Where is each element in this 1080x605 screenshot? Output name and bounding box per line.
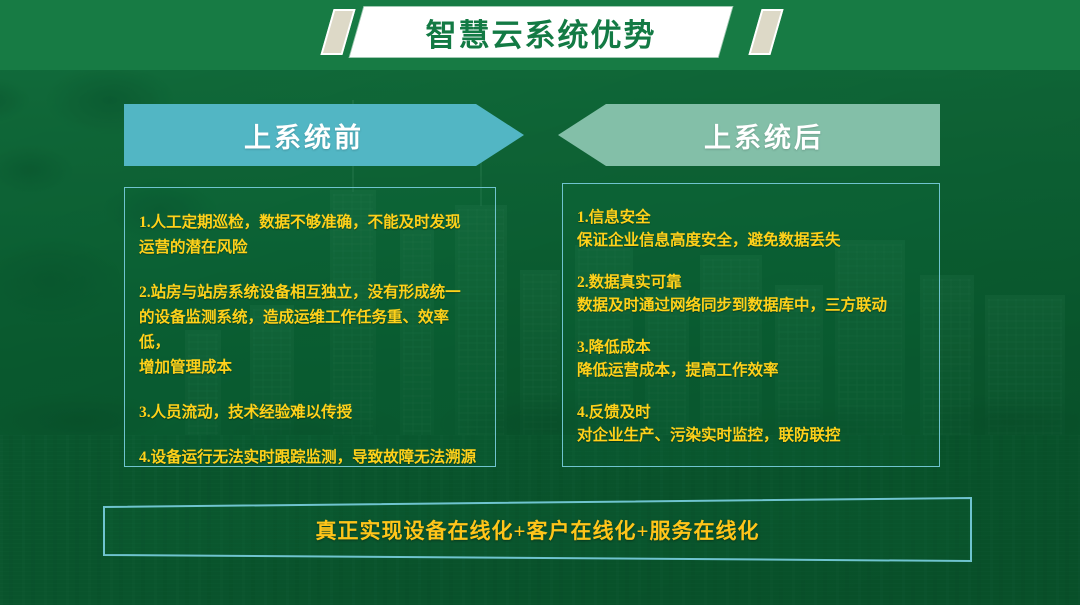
header-arrow-before: 上系统前 — [124, 104, 524, 166]
list-item: 3.人员流动，技术经验难以传授 — [139, 400, 479, 425]
list-item-line: 2.站房与站房系统设备相互独立，没有形成统一 — [139, 280, 479, 305]
list-item-heading: 3.降低成本 — [577, 336, 923, 359]
header-label-after: 上系统后 — [704, 116, 824, 155]
list-item-heading: 4.反馈及时 — [577, 401, 923, 424]
list-item: 2.数据真实可靠 数据及时通过网络同步到数据库中，三方联动 — [577, 271, 923, 317]
list-item: 4.设备运行无法实时跟踪监测，导致故障无法溯源 — [139, 445, 479, 470]
header-arrow-after: 上系统后 — [558, 104, 940, 166]
list-item-heading: 1.信息安全 — [577, 206, 923, 229]
list-item-line: 降低运营成本，提高工作效率 — [577, 359, 923, 382]
title-accent-bar-right — [748, 9, 783, 55]
panel-after: 1.信息安全 保证企业信息高度安全，避免数据丢失 2.数据真实可靠 数据及时通过… — [562, 183, 940, 467]
after-item-list: 1.信息安全 保证企业信息高度安全，避免数据丢失 2.数据真实可靠 数据及时通过… — [563, 184, 939, 466]
list-item: 1.人工定期巡检，数据不够准确，不能及时发现 运营的潜在风险 — [139, 210, 479, 260]
list-item-line: 运营的潜在风险 — [139, 235, 479, 260]
list-item: 3.降低成本 降低运营成本，提高工作效率 — [577, 336, 923, 382]
list-item: 1.信息安全 保证企业信息高度安全，避免数据丢失 — [577, 206, 923, 252]
list-item: 4.反馈及时 对企业生产、污染实时监控，联防联控 — [577, 401, 923, 447]
page-title: 智慧云系统优势 — [357, 7, 725, 57]
list-item-line: 的设备监测系统，造成运维工作任务重、效率低， — [139, 305, 479, 355]
footer-text: 真正实现设备在线化+客户在线化+服务在线化 — [103, 497, 972, 563]
list-item: 2.站房与站房系统设备相互独立，没有形成统一 的设备监测系统，造成运维工作任务重… — [139, 280, 479, 380]
list-item-line: 对企业生产、污染实时监控，联防联控 — [577, 424, 923, 447]
title-band: 智慧云系统优势 — [0, 0, 1080, 70]
list-item-line: 增加管理成本 — [139, 355, 479, 380]
title-banner: 智慧云系统优势 — [327, 7, 777, 59]
panel-before: 1.人工定期巡检，数据不够准确，不能及时发现 运营的潜在风险 2.站房与站房系统… — [124, 187, 496, 467]
list-item-line: 保证企业信息高度安全，避免数据丢失 — [577, 229, 923, 252]
slide-root: 智慧云系统优势 上系统前 上系统后 1.人工定期巡检，数据不够准确，不能及时发现… — [0, 0, 1080, 605]
footer-banner: 真正实现设备在线化+客户在线化+服务在线化 — [103, 497, 972, 563]
list-item-heading: 2.数据真实可靠 — [577, 271, 923, 294]
list-item-line: 4.设备运行无法实时跟踪监测，导致故障无法溯源 — [139, 445, 479, 470]
title-accent-bar-left — [320, 9, 355, 55]
list-item-line: 1.人工定期巡检，数据不够准确，不能及时发现 — [139, 210, 479, 235]
before-item-list: 1.人工定期巡检，数据不够准确，不能及时发现 运营的潜在风险 2.站房与站房系统… — [125, 188, 495, 466]
list-item-line: 3.人员流动，技术经验难以传授 — [139, 400, 479, 425]
header-label-before: 上系统前 — [244, 116, 364, 155]
list-item-line: 数据及时通过网络同步到数据库中，三方联动 — [577, 294, 923, 317]
